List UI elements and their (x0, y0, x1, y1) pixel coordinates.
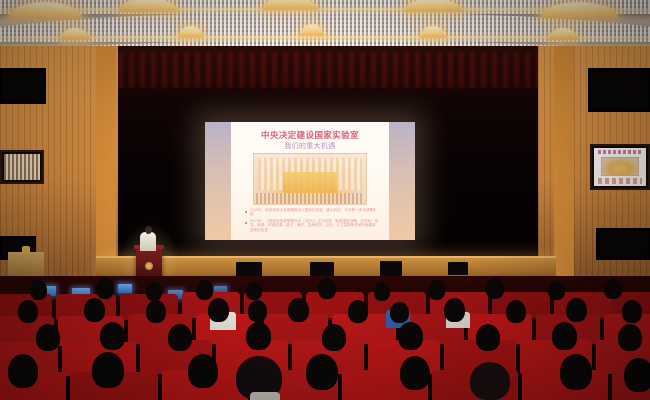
right-display-content (594, 148, 646, 186)
audience-head (506, 300, 526, 323)
audience-head (444, 298, 465, 322)
audience-head (146, 300, 166, 323)
right-side-display[interactable] (590, 144, 650, 190)
audience-head (318, 278, 336, 299)
audience-head (604, 279, 622, 299)
audience-head (146, 282, 162, 301)
presenter-head (145, 226, 152, 234)
stage-monitor (380, 261, 402, 276)
slide-photo-great-hall (253, 153, 367, 205)
left-upper-display-off (0, 68, 46, 104)
stage-curtain (96, 52, 556, 88)
audience-head (374, 282, 390, 301)
audience-head (618, 324, 642, 351)
audience-head (624, 358, 650, 392)
screen-left-band (205, 122, 231, 240)
left-pillar (96, 46, 116, 288)
slide-bullet-list: 2016年，科技创新大会明确提出以国家实验室、重大科技、平台等一体化部署实施 2… (245, 208, 379, 234)
audience-head (470, 362, 510, 400)
audience-head (84, 298, 105, 322)
audience-head (548, 281, 565, 300)
ceiling-light-icon (262, 0, 318, 10)
laptop-screen (118, 284, 132, 293)
ceiling-light-icon (118, 0, 178, 12)
audience-head (398, 322, 423, 350)
list-item: 2016年，科技创新大会明确提出以国家实验室、重大科技、平台等一体化部署实施 (245, 208, 379, 217)
audience-head (36, 324, 60, 351)
stage-monitor (236, 262, 262, 277)
main-projection-screen[interactable]: 中央决定建设国家实验室 我们的重大机遇 2016年，科技创新大会明确提出以国家实… (205, 122, 415, 240)
right-lower-display-off (596, 228, 650, 260)
audience-head (400, 356, 430, 390)
audience-head (428, 280, 445, 300)
bullet-text: 2017年，《国家实验室管理办法（试行）》正式印发，聚焦国家战略，在材料、信息、… (250, 219, 379, 232)
audience-head (306, 354, 338, 390)
emblem-icon (145, 262, 153, 270)
ceiling-light-icon (404, 0, 462, 12)
slide-subtitle: 我们的重大机遇 (231, 141, 389, 151)
audience-head (476, 324, 500, 351)
slide-photo-stage (283, 172, 337, 193)
right-display-bullet-lines (598, 178, 642, 184)
audience-shirt (250, 392, 280, 400)
left-side-display[interactable] (0, 150, 44, 184)
audience-head (322, 324, 346, 351)
audience-head (348, 300, 368, 323)
audience-head (566, 298, 587, 322)
audience-seating (0, 276, 650, 400)
bullet-text: 2016年，科技创新大会明确提出以国家实验室、重大科技、平台等一体化部署实施 (250, 208, 379, 217)
slide-photo-crowd (256, 193, 364, 204)
audience-head (92, 352, 124, 388)
list-item: 2017年，《国家实验室管理办法（试行）》正式印发，聚焦国家战略，在材料、信息、… (245, 219, 379, 232)
presenter-body (140, 232, 156, 251)
right-display-title-line (598, 150, 642, 154)
audience-head (30, 280, 47, 300)
screen-right-band (389, 122, 415, 240)
right-pillar (554, 46, 574, 288)
audience-head (248, 300, 267, 322)
audience-head (18, 300, 38, 323)
audience-head (622, 300, 642, 323)
right-upper-display-off (588, 68, 650, 112)
audience-head (560, 354, 592, 390)
audience-head (188, 354, 218, 388)
bullet-dot-icon (245, 222, 247, 224)
audience-head (390, 302, 409, 323)
audience-head (168, 324, 192, 351)
auditorium-photo: 中央决定建设国家实验室 我们的重大机遇 2016年，科技创新大会明确提出以国家实… (0, 0, 650, 400)
audience-head (100, 322, 125, 350)
audience-head (486, 278, 504, 299)
stage-monitor (310, 262, 334, 276)
audience-head (288, 298, 309, 322)
audience-head (208, 298, 229, 322)
desk-lamp-icon (22, 246, 30, 253)
audience-head (96, 278, 114, 299)
slide-content: 中央决定建设国家实验室 我们的重大机遇 2016年，科技创新大会明确提出以国家实… (231, 122, 389, 240)
left-display-content (4, 154, 40, 180)
bullet-dot-icon (245, 211, 247, 213)
audience-head (246, 322, 271, 350)
audience-head (196, 280, 213, 300)
stage-monitor (448, 262, 468, 275)
audience-head (246, 282, 262, 300)
audience-head (8, 354, 38, 388)
audience-head (552, 322, 577, 350)
right-display-photo (601, 157, 639, 176)
slide-title: 中央决定建设国家实验室 (231, 129, 389, 141)
